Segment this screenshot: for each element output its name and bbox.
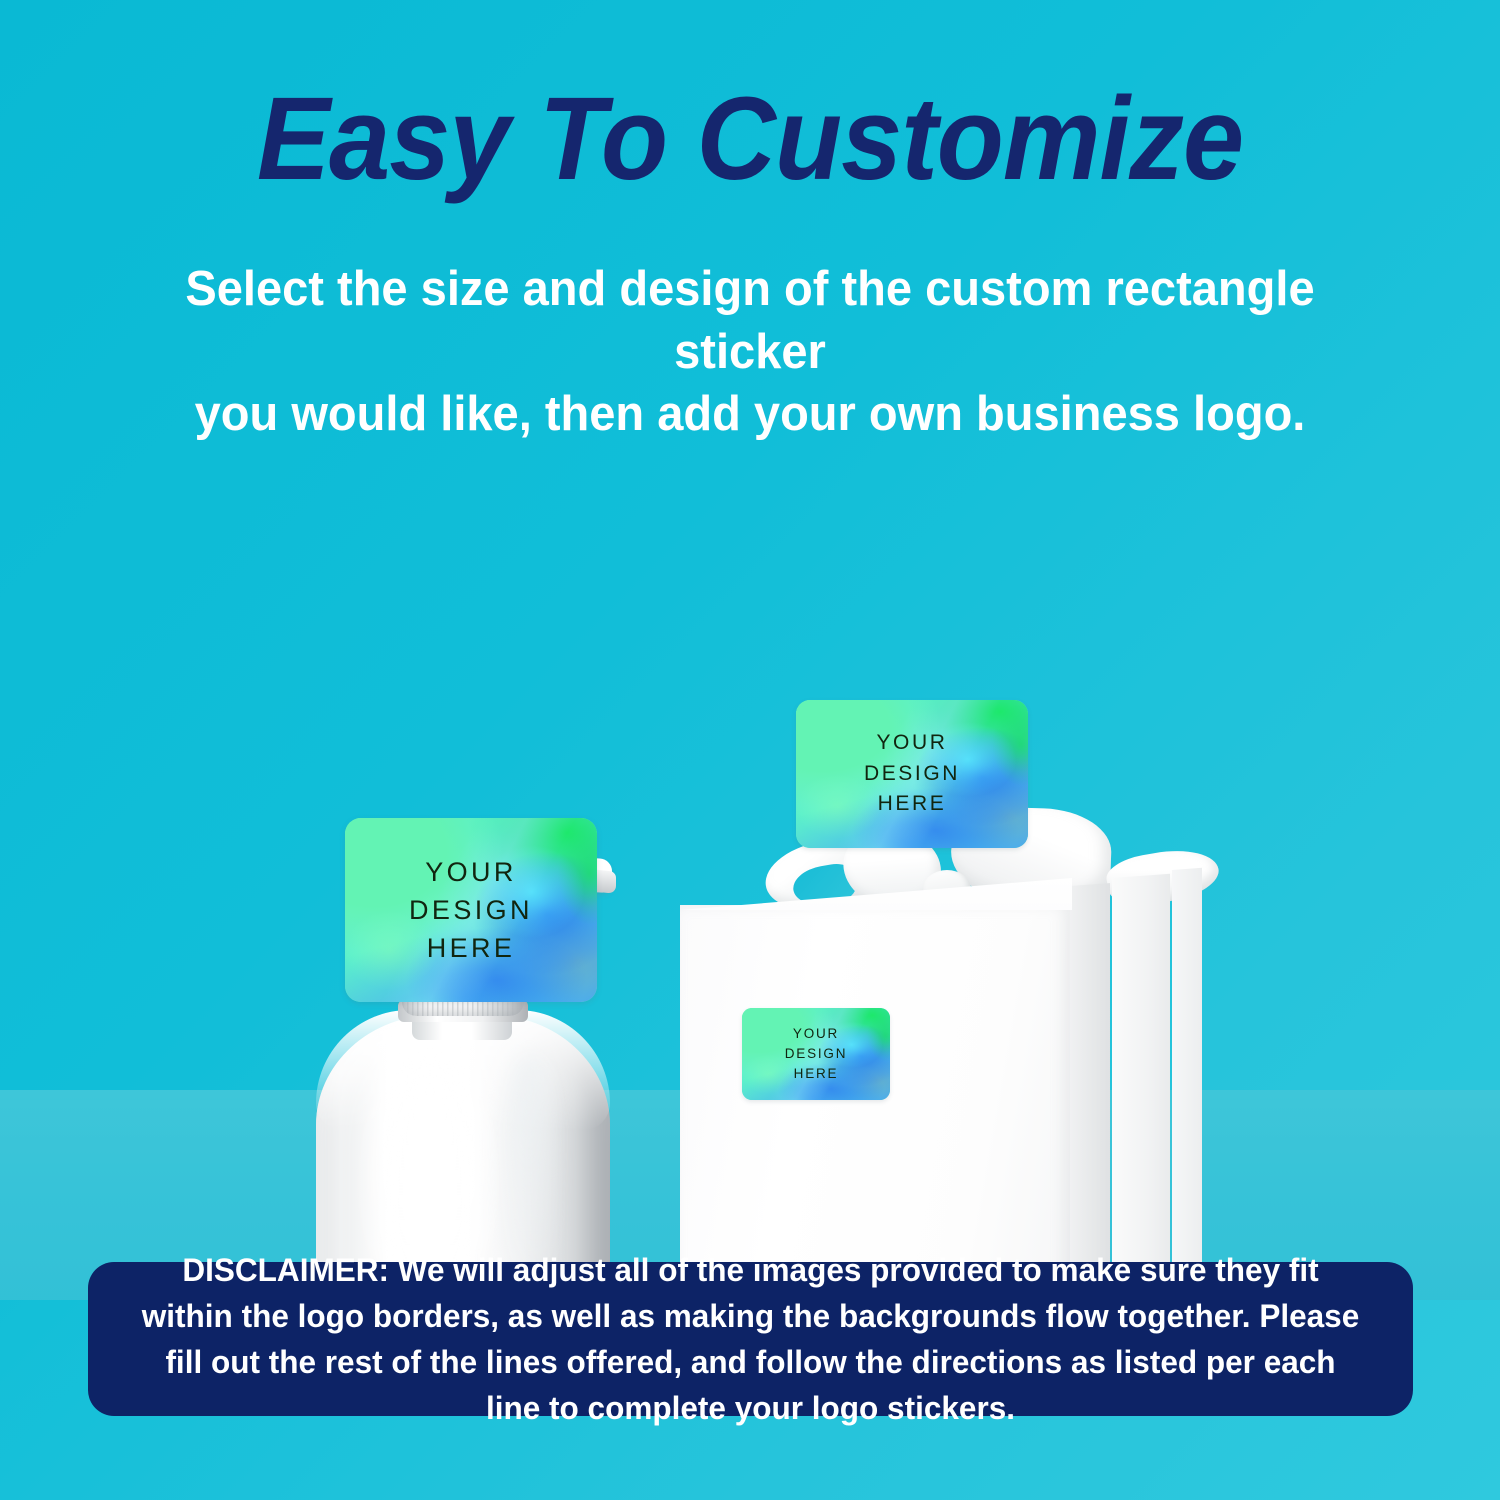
sticker-preview-gift-box[interactable]: YOUR DESIGN HERE — [796, 700, 1028, 848]
sticker-line-3: HERE — [794, 1064, 839, 1084]
disclaimer-banner: DISCLAIMER: We will adjust all of the im… — [88, 1262, 1413, 1416]
gift-box-lid-edge — [680, 878, 1072, 910]
gift-box-side-back — [1172, 868, 1202, 1300]
page-title: Easy To Customize — [53, 78, 1448, 202]
disclaimer-text: DISCLAIMER: We will adjust all of the im… — [141, 1247, 1360, 1432]
sticker-line-2: DESIGN — [864, 759, 960, 789]
sticker-preview-small-carton[interactable]: YOUR DESIGN HERE — [742, 1008, 890, 1100]
gift-box-front-panel — [680, 905, 1070, 1300]
sticker-line-2: DESIGN — [785, 1044, 848, 1064]
disclaimer-label: DISCLAIMER: — [182, 1252, 389, 1288]
sticker-line-1: YOUR — [425, 853, 517, 891]
gift-box-side-mid — [1112, 874, 1170, 1300]
sticker-preview-pump-bottle[interactable]: YOUR DESIGN HERE — [345, 818, 597, 1002]
sticker-line-3: HERE — [878, 789, 947, 819]
sticker-placeholder-text: YOUR DESIGN HERE — [742, 1008, 890, 1100]
sticker-line-2: DESIGN — [409, 891, 533, 929]
sticker-placeholder-text: YOUR DESIGN HERE — [345, 818, 597, 1002]
sticker-line-1: YOUR — [876, 728, 947, 758]
sticker-placeholder-text: YOUR DESIGN HERE — [796, 700, 1028, 848]
product-mockup-scene — [0, 400, 1500, 1300]
sticker-line-1: YOUR — [793, 1024, 839, 1044]
sticker-line-3: HERE — [427, 929, 516, 967]
subtitle-line-1: Select the size and design of the custom… — [116, 258, 1383, 383]
gift-box-side-front — [1070, 883, 1110, 1300]
